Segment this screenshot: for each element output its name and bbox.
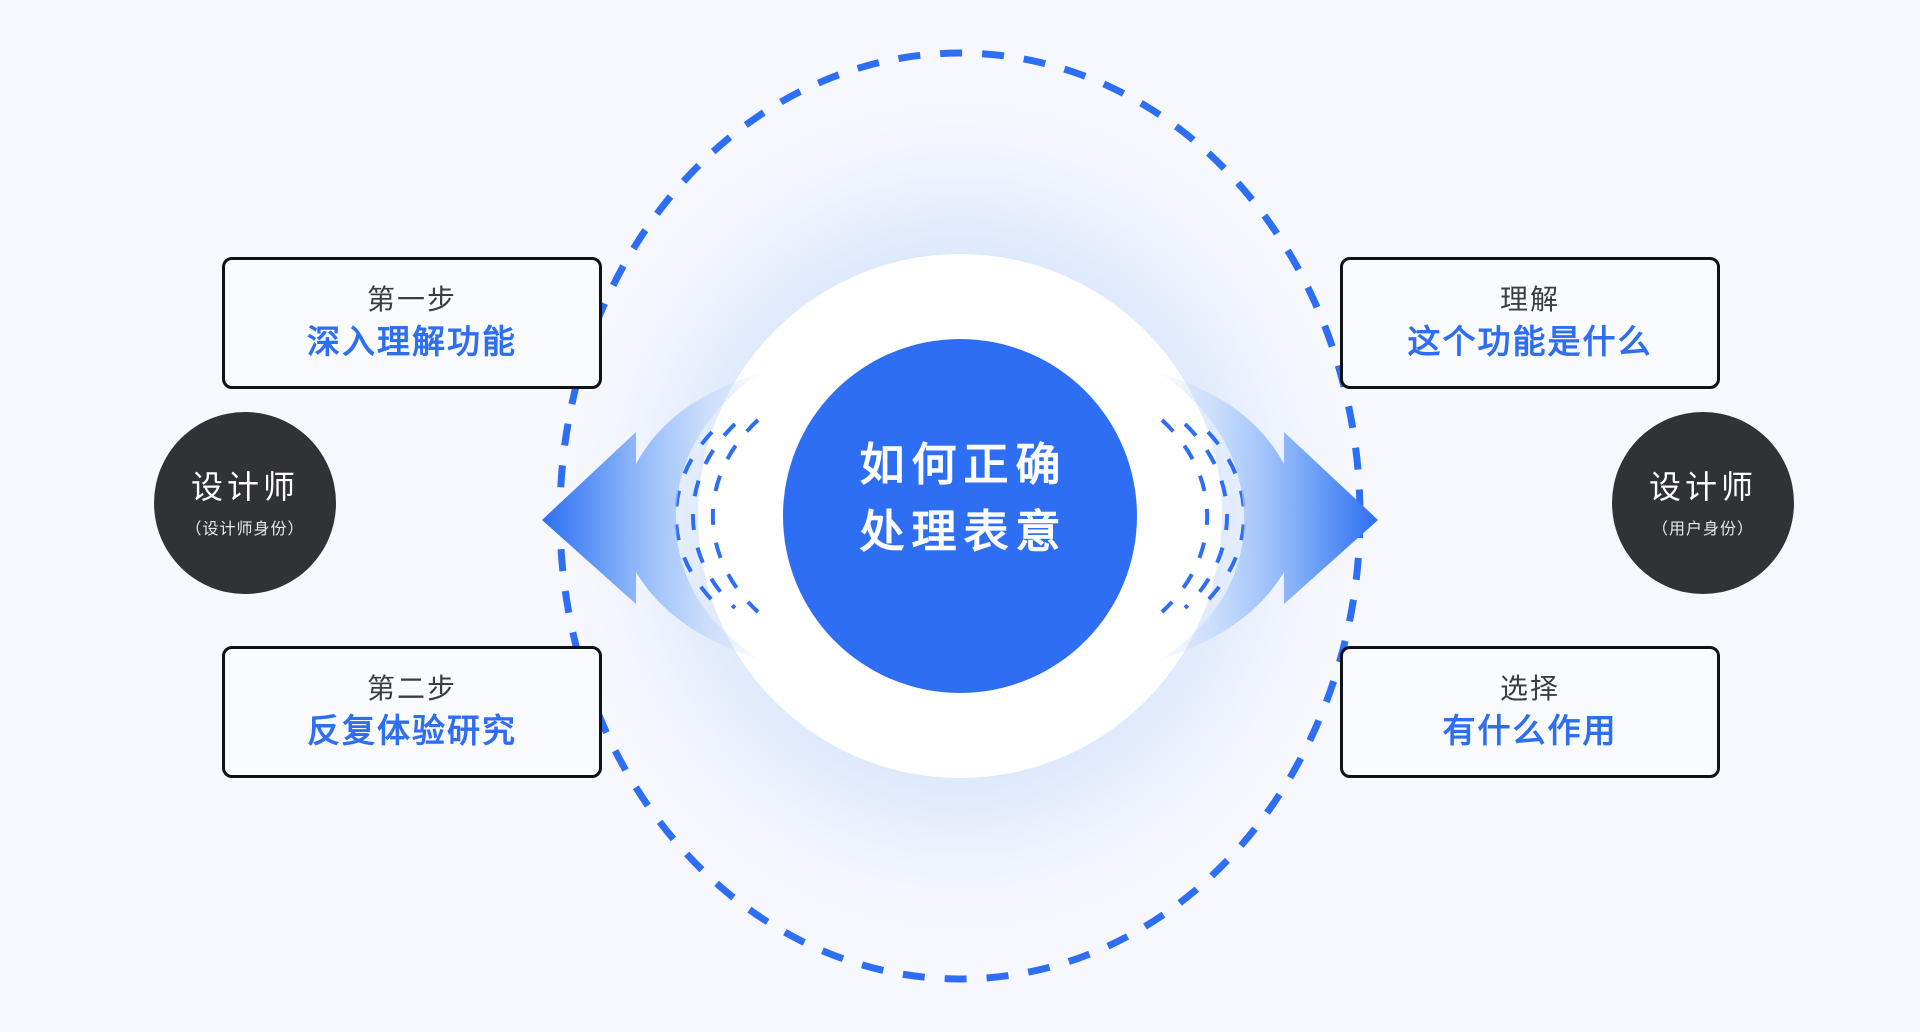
step-1-title: 第一步 [367, 282, 457, 317]
persona-right-role: （用户身份） [1652, 515, 1754, 539]
persona-left-name: 设计师 [191, 467, 299, 509]
question-1-subtitle: 这个功能是什么 [1408, 321, 1653, 364]
diagram-canvas: 第一步 深入理解功能 第二步 反复体验研究 理解 这个功能是什么 选择 有什么作… [0, 0, 1920, 1032]
persona-designer-left[interactable]: 设计师 （设计师身份） [154, 412, 336, 594]
question-1-title: 理解 [1500, 282, 1560, 317]
step-2-subtitle: 反复体验研究 [307, 710, 517, 753]
question-2-subtitle: 有什么作用 [1443, 710, 1618, 753]
persona-left-role: （设计师身份） [185, 515, 304, 539]
question-2-box[interactable]: 选择 有什么作用 [1340, 646, 1720, 778]
center-core-circle [783, 339, 1137, 693]
persona-right-name: 设计师 [1649, 467, 1757, 509]
question-2-title: 选择 [1500, 671, 1560, 706]
persona-designer-right[interactable]: 设计师 （用户身份） [1612, 412, 1794, 594]
step-1-subtitle: 深入理解功能 [307, 321, 517, 364]
question-1-box[interactable]: 理解 这个功能是什么 [1340, 257, 1720, 389]
step-2-title: 第二步 [367, 671, 457, 706]
step-2-box[interactable]: 第二步 反复体验研究 [222, 646, 602, 778]
step-1-box[interactable]: 第一步 深入理解功能 [222, 257, 602, 389]
